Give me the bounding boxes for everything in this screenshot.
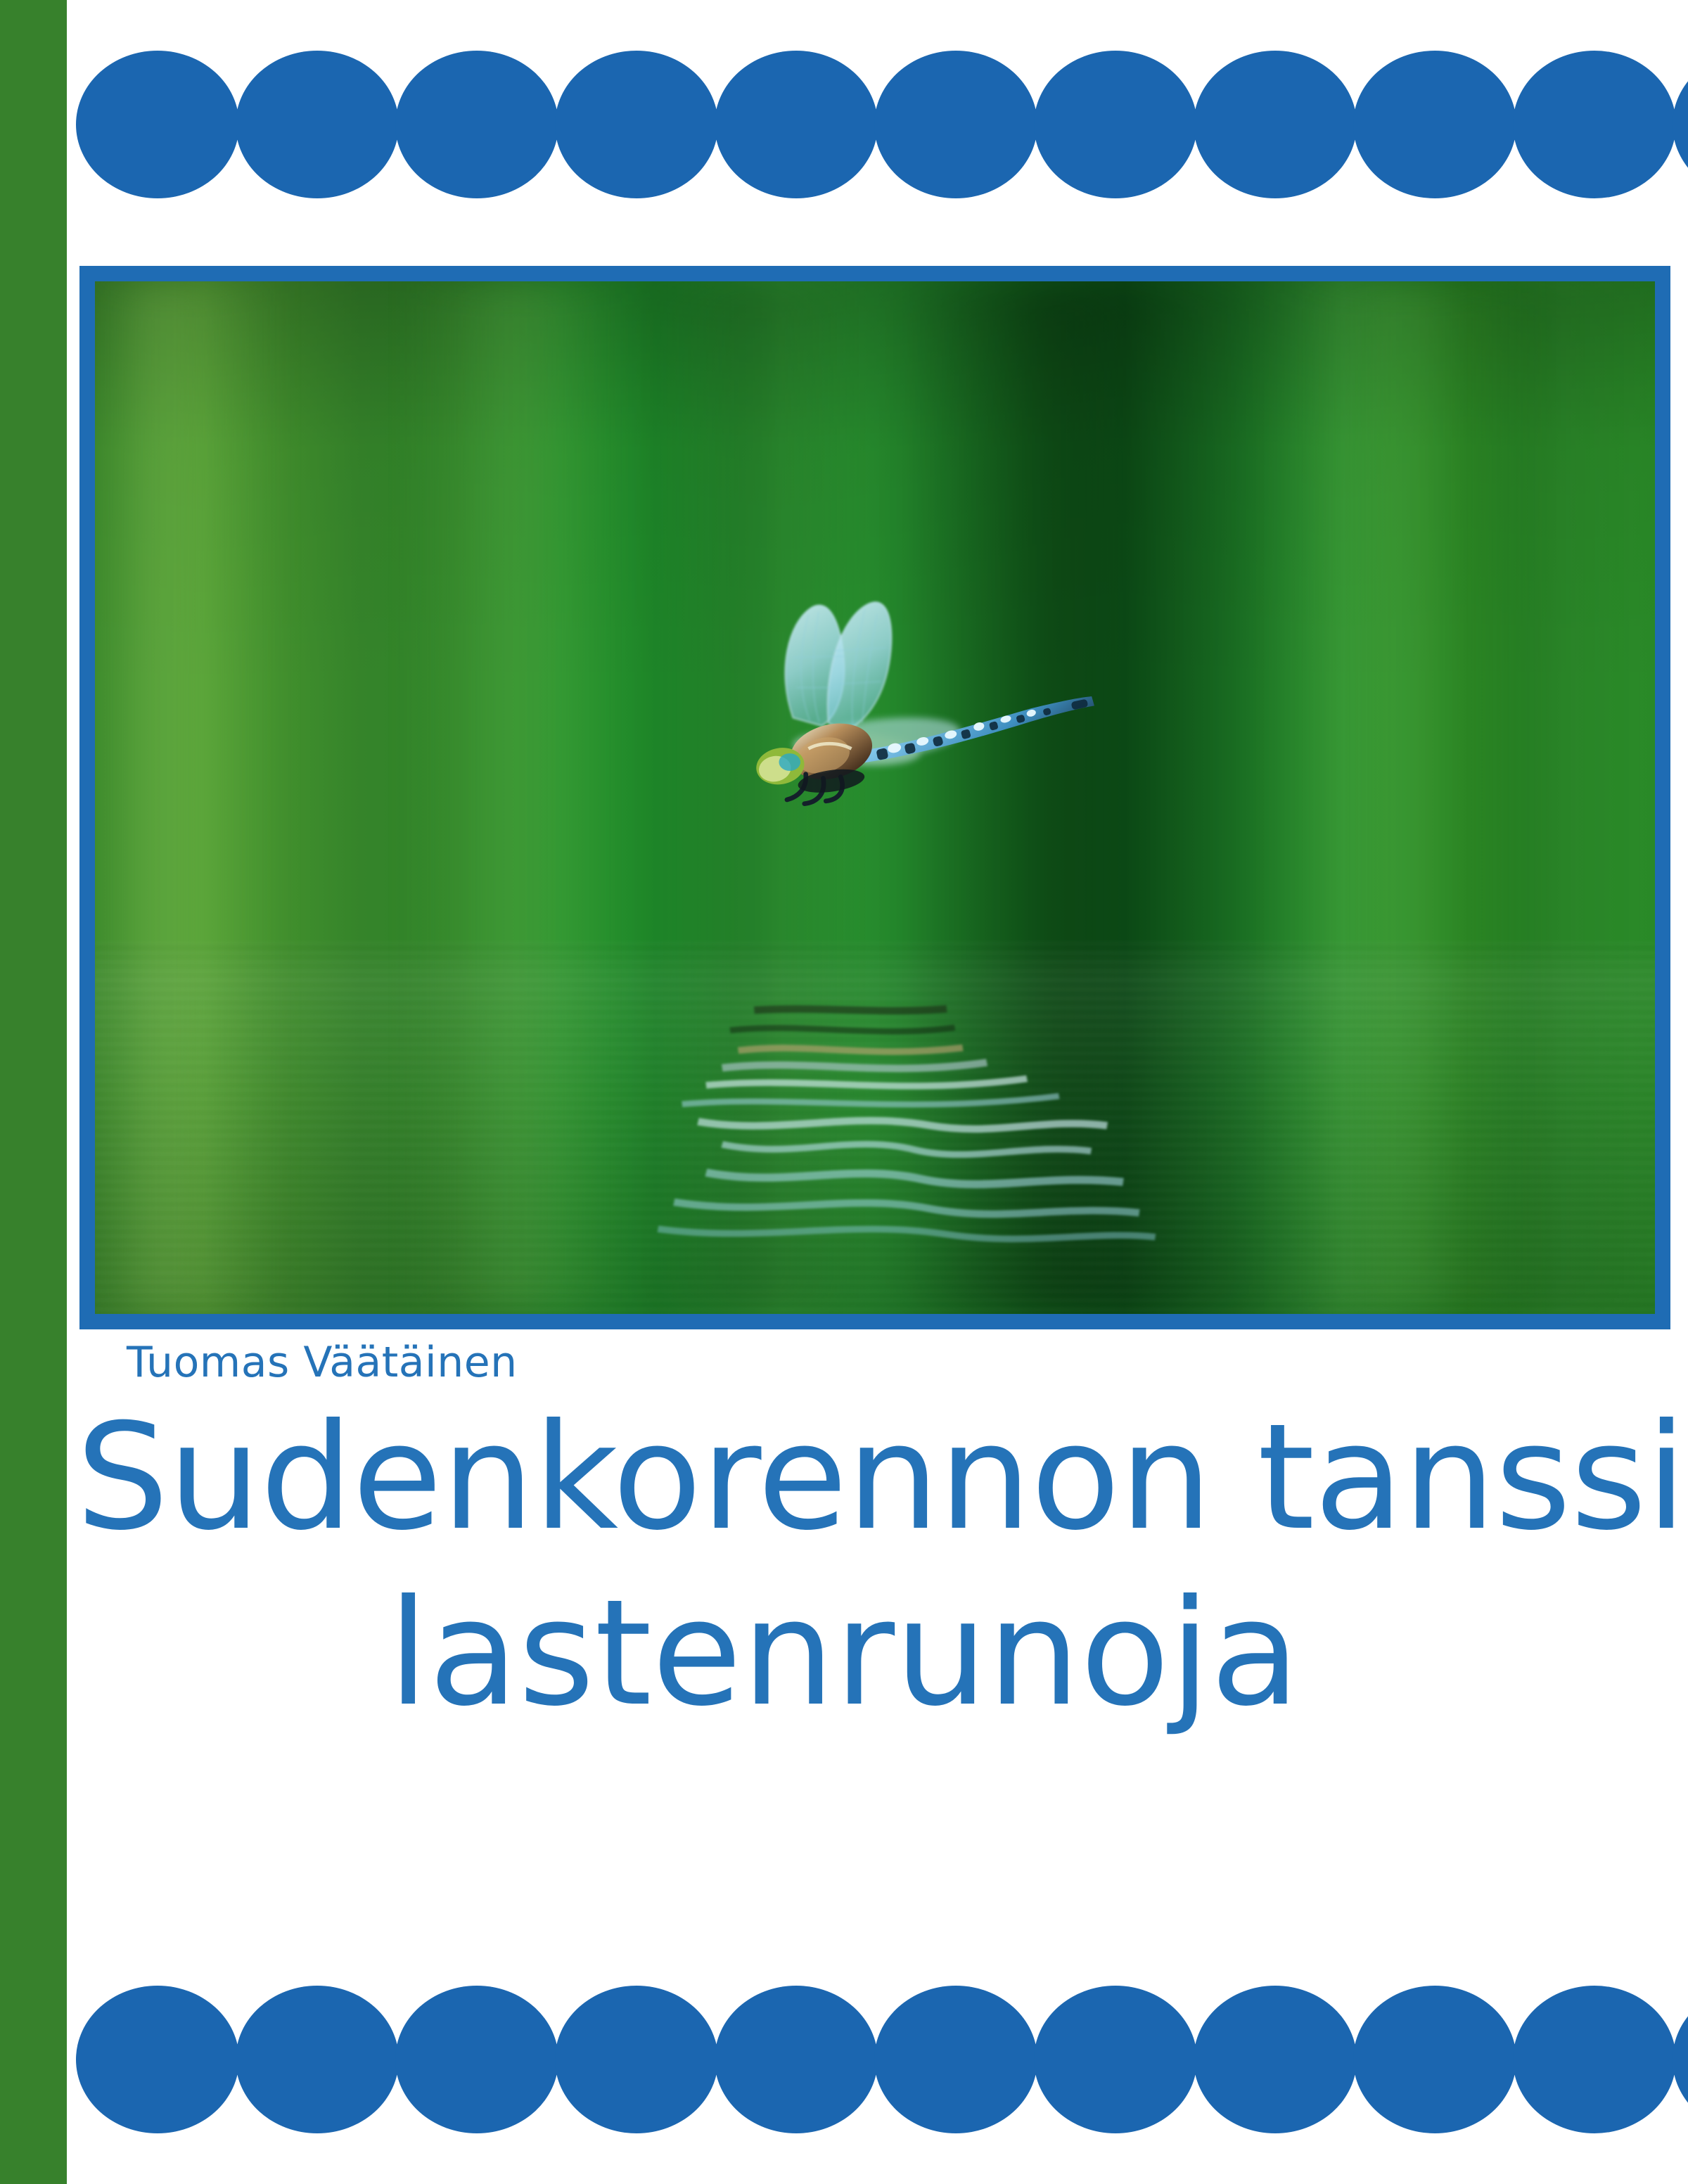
book-title: Sudenkorennon tanssi <box>76 1403 1688 1552</box>
decorative-circle-bottom <box>76 1986 239 2133</box>
author-name: Tuomas Väätäinen <box>127 1338 518 1387</box>
bottom-circle-band <box>67 1986 1688 2133</box>
decorative-circle-top <box>715 51 878 198</box>
decorative-circle-bottom <box>715 1986 878 2133</box>
book-subtitle: lastenrunoja <box>0 1579 1688 1728</box>
decorative-circle-top <box>1194 51 1357 198</box>
decorative-circle-top <box>874 51 1037 198</box>
decorative-circle-bottom <box>1513 1986 1676 2133</box>
decorative-circle-top <box>76 51 239 198</box>
decorative-circle-bottom <box>236 1986 399 2133</box>
decorative-circle-top <box>395 51 558 198</box>
decorative-circle-bottom <box>874 1986 1037 2133</box>
decorative-circle-top <box>1034 51 1197 198</box>
decorative-circle-bottom <box>1673 1986 1688 2133</box>
book-cover: Tuomas Väätäinen Sudenkorennon tanssi la… <box>0 0 1688 2184</box>
decorative-circle-top <box>1513 51 1676 198</box>
decorative-circle-bottom <box>395 1986 558 2133</box>
cover-photo <box>95 281 1655 1314</box>
decorative-circle-top <box>1673 51 1688 198</box>
dragonfly-icon <box>641 550 1140 819</box>
dragonfly-reflection <box>610 983 1171 1252</box>
decorative-circle-bottom <box>1194 1986 1357 2133</box>
decorative-circle-top <box>555 51 718 198</box>
decorative-circle-bottom <box>1034 1986 1197 2133</box>
decorative-circle-top <box>1353 51 1516 198</box>
cover-photo-frame <box>79 266 1670 1329</box>
top-circle-band <box>67 51 1688 198</box>
decorative-circle-bottom <box>555 1986 718 2133</box>
decorative-circle-bottom <box>1353 1986 1516 2133</box>
spine-strip <box>0 0 67 2184</box>
decorative-circle-top <box>236 51 399 198</box>
